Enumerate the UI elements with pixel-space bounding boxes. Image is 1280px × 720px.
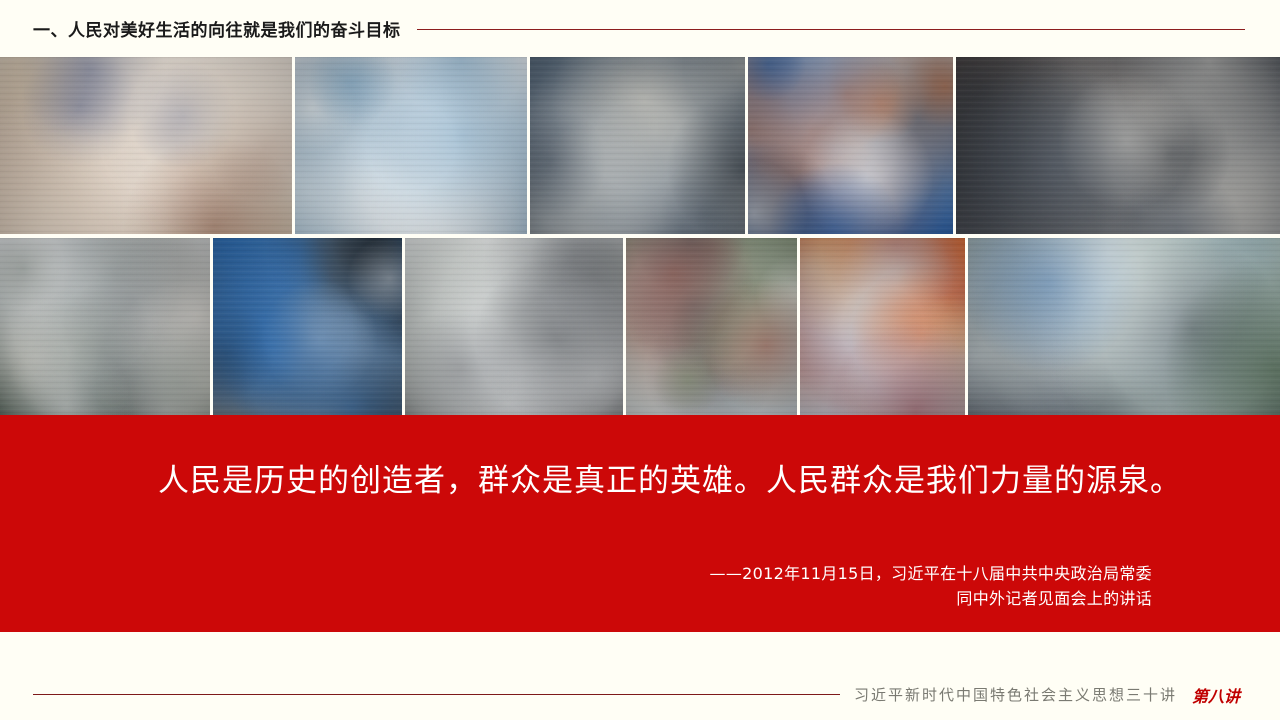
photo-canvas [213,238,402,415]
photo-row-bottom [0,238,1280,415]
page-title: 一、人民对美好生活的向往就是我们的奋斗目标 [33,16,401,41]
photo-canvas [530,57,745,234]
photo-police-officer-service-desk [530,57,745,234]
photo-canvas [956,57,1280,234]
slide-footer: 习近平新时代中国特色社会主义思想三十讲 第八讲 [0,632,1280,720]
photo-factory-worker-blue-uniform [213,238,402,415]
photo-canvas [0,238,210,415]
photo-control-room-operator [956,57,1280,234]
photo-canvas [748,57,953,234]
slide-header: 一、人民对美好生活的向往就是我们的奋斗目标 [0,0,1280,57]
photo-canvas [0,57,292,234]
quote-band: 人民是历史的创造者，群众是真正的英雄。人民群众是我们力量的源泉。 ——2012年… [0,415,1280,632]
photo-canvas [626,238,797,415]
photo-basketball-team-gym [748,57,953,234]
photo-lab-researcher-microscope [405,238,623,415]
photo-delivery-courier-handoff [626,238,797,415]
footer-divider-rule [33,694,840,695]
photo-police-station-officers [968,238,1280,415]
footer-series-title: 习近平新时代中国特色社会主义思想三十讲 [854,684,1177,705]
photo-sanitation-worker-street [800,238,965,415]
photo-classroom-children-2018 [0,57,292,234]
quote-text: 人民是历史的创造者，群众是真正的英雄。人民群众是我们力量的源泉。 [96,453,1186,509]
footer-inner: 习近平新时代中国特色社会主义思想三十讲 第八讲 [33,681,1245,708]
photo-doctor-and-patient [295,57,527,234]
header-divider-rule [417,29,1246,30]
photo-canvas [800,238,965,415]
photo-laundry-service-worker [0,238,210,415]
slide-root: 一、人民对美好生活的向往就是我们的奋斗目标 [0,0,1280,720]
footer-lecture-stamp: 第八讲 [1187,681,1245,708]
photo-mosaic [0,57,1280,415]
photo-row-top [0,57,1280,234]
quote-attribution: ——2012年11月15日，习近平在十八届中共中央政治局常委 同中外记者见面会上… [452,561,1152,611]
photo-canvas [405,238,623,415]
quote-attribution-line1: ——2012年11月15日，习近平在十八届中共中央政治局常委 [710,564,1152,583]
quote-attribution-line2: 同中外记者见面会上的讲话 [452,586,1152,611]
photo-canvas [295,57,527,234]
photo-canvas [968,238,1280,415]
